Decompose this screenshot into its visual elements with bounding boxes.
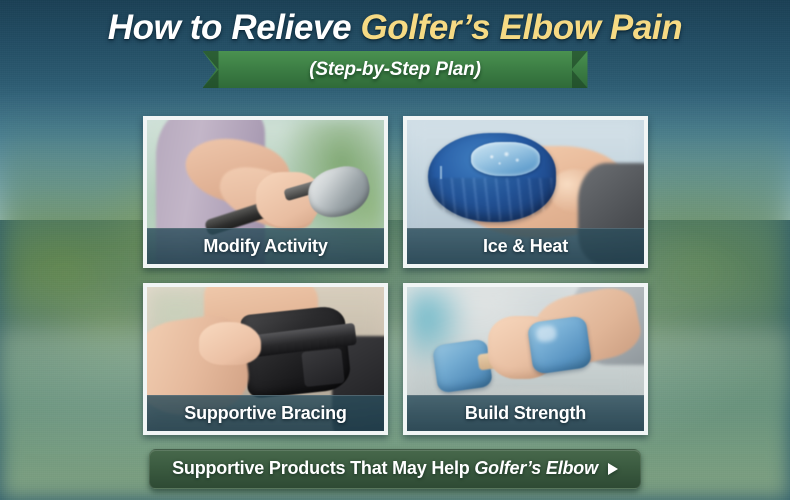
- step-card-label: Modify Activity: [203, 236, 327, 257]
- cta-text-italic: Golfer’s Elbow: [474, 458, 598, 478]
- subtitle-ribbon-wrap: (Step-by-Step Plan): [0, 51, 790, 88]
- step-card-modify-activity[interactable]: Modify Activity: [143, 116, 388, 268]
- steps-grid: Modify Activity Ice & Heat: [143, 116, 648, 435]
- subtitle-ribbon: (Step-by-Step Plan): [203, 51, 588, 88]
- photo-ice-pack-quilting: [433, 178, 552, 221]
- step-card-label-bar: Build Strength: [407, 395, 644, 431]
- play-triangle-icon: [608, 463, 618, 475]
- cta-text-before: Supportive Products That May Help: [172, 458, 474, 478]
- page-title: How to Relieve Golfer’s Elbow Pain: [0, 0, 790, 45]
- cta-wrap: Supportive Products That May Help Golfer…: [0, 449, 790, 489]
- header: How to Relieve Golfer’s Elbow Pain (Step…: [0, 0, 790, 88]
- step-card-label-bar: Ice & Heat: [407, 228, 644, 264]
- step-card-build-strength[interactable]: Build Strength: [403, 283, 648, 435]
- photo-fingers: [199, 322, 261, 365]
- page-title-prefix: How to Relieve: [108, 8, 361, 47]
- step-card-label: Ice & Heat: [483, 236, 568, 257]
- step-card-supportive-bracing[interactable]: Supportive Bracing: [143, 283, 388, 435]
- step-card-ice-and-heat[interactable]: Ice & Heat: [403, 116, 648, 268]
- step-card-label-bar: Supportive Bracing: [147, 395, 384, 431]
- photo-pack-logo: [440, 166, 468, 179]
- supportive-products-button-label: Supportive Products That May Help Golfer…: [172, 458, 598, 479]
- photo-gel-window: [471, 142, 540, 177]
- page-title-highlight: Golfer’s Elbow Pain: [360, 8, 682, 47]
- photo-brace-pad: [302, 348, 346, 387]
- step-card-label-bar: Modify Activity: [147, 228, 384, 264]
- supportive-products-button[interactable]: Supportive Products That May Help Golfer…: [149, 449, 641, 489]
- subtitle-ribbon-label: (Step-by-Step Plan): [309, 59, 480, 81]
- step-card-label: Build Strength: [465, 403, 586, 424]
- step-card-label: Supportive Bracing: [184, 403, 346, 424]
- photo-dumbbell-near-end: [527, 315, 593, 375]
